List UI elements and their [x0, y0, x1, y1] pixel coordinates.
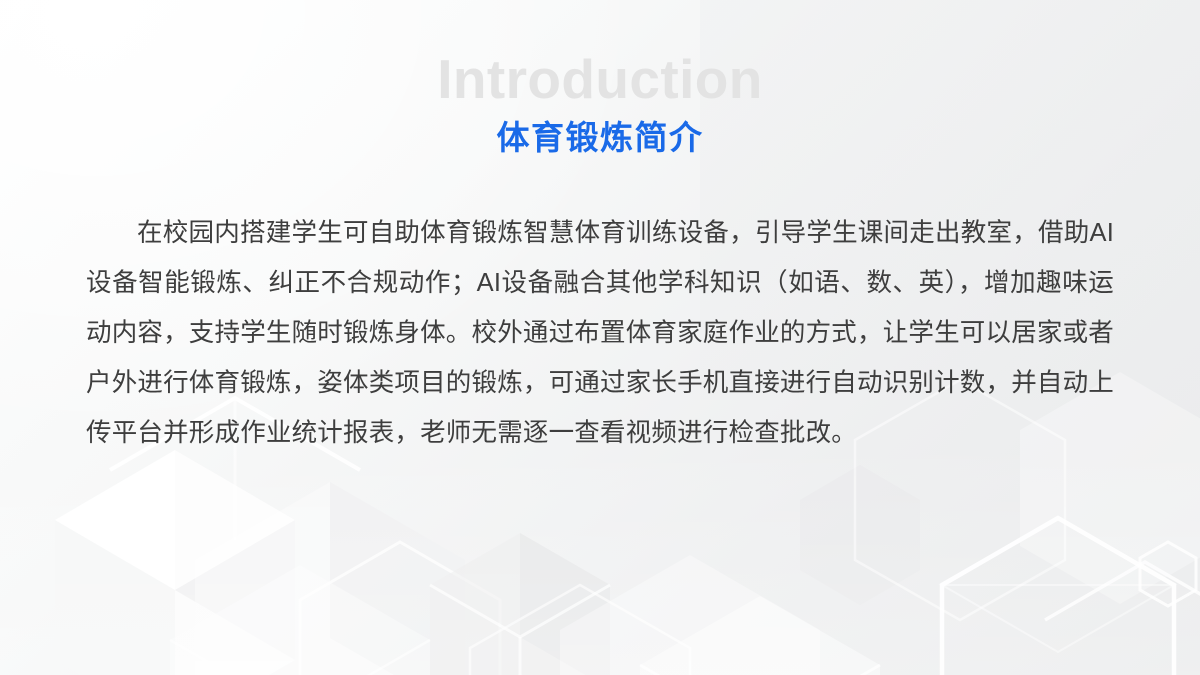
body-paragraph: 在校园内搭建学生可自助体育锻炼智慧体育训练设备，引导学生课间走出教室，借助AI设…	[86, 208, 1114, 458]
hexagon-cube-group-center	[430, 533, 820, 675]
title-block: Introduction 体育锻炼简介	[0, 52, 1200, 152]
slide-introduction: Introduction 体育锻炼简介 在校园内搭建学生可自助体育锻炼智慧体育训…	[0, 0, 1200, 675]
section-watermark-text: Introduction	[0, 52, 1200, 107]
hexagon-cube-group-bottom	[170, 565, 880, 675]
page-title: 体育锻炼简介	[0, 119, 1200, 158]
